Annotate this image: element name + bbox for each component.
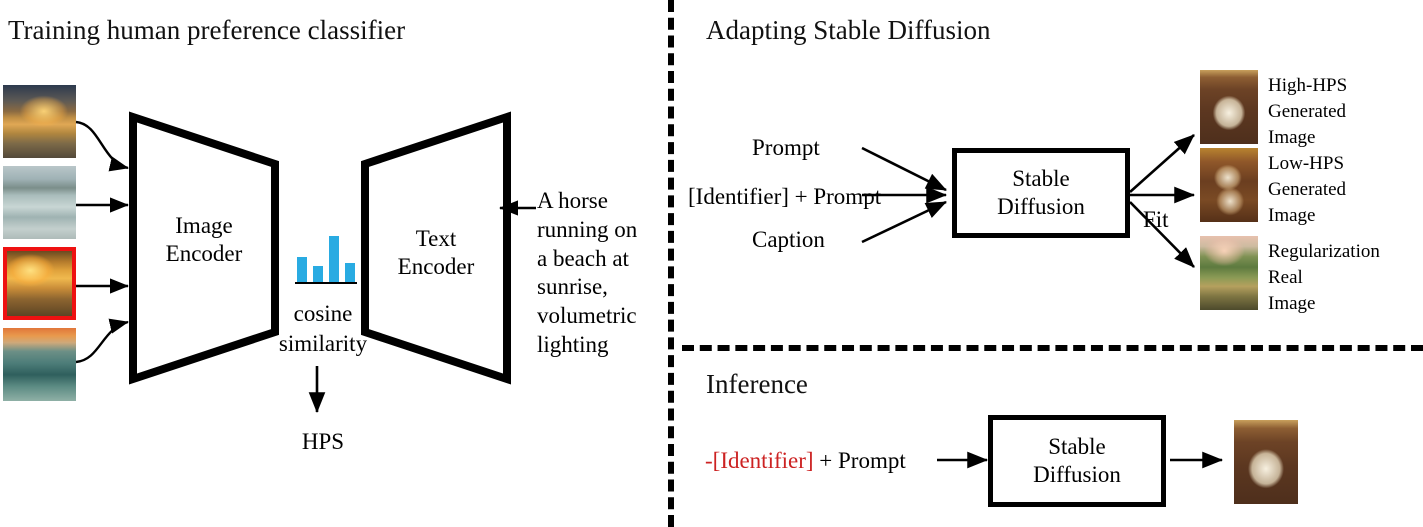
left-panel-title: Training human preference classifier [8,16,405,46]
input-label-prompt: Prompt [752,134,820,162]
output-caption-low-hps-line1: Low-HPS [1268,151,1418,177]
inference-input-identifier: -[Identifier] [705,448,814,473]
bar-2 [313,266,323,282]
bar-3 [329,236,339,282]
bar-4 [345,263,355,282]
dog-high-hps-thumb [1200,70,1258,144]
output-caption-high-hps-line2: Generated [1268,99,1418,125]
text-encoder-label-line2: Encoder [360,253,512,281]
sd-adapting-line2: Diffusion [997,193,1085,221]
dog-inference-thumb [1234,420,1298,504]
image-encoder-label-line1: Image [128,212,280,240]
prompt-arrow [494,198,540,222]
inference-input-arrow [935,450,995,474]
input-label-caption: Caption [752,226,825,254]
sd-inference-line1: Stable [1048,433,1106,461]
output-caption-high-hps-line3: Image [1268,125,1418,151]
top-right-panel-title: Adapting Stable Diffusion [706,16,990,46]
horse-teal-thumb [3,328,76,401]
output-caption-low-hps-line3: Image [1268,203,1418,229]
cosine-similarity-label-line2: similarity [258,330,388,358]
horse-golden-thumb [3,247,76,320]
output-caption-regularization-line1: Regularization [1268,239,1423,265]
regularization-real-thumb [1200,236,1258,310]
dog-low-hps-thumb [1200,148,1258,222]
bar-1 [297,257,307,282]
figure-root: Training human preference classifier Ima… [0,0,1423,527]
vertical-divider [668,0,674,527]
output-caption-low-hps-line2: Generated [1268,177,1418,203]
stable-diffusion-box-adapting: Stable Diffusion [952,148,1130,238]
output-caption-high-hps-line1: High-HPS [1268,73,1418,99]
stable-diffusion-box-inference: Stable Diffusion [988,415,1166,507]
output-caption-low-hps: Low-HPS Generated Image [1268,151,1418,230]
output-caption-high-hps: High-HPS Generated Image [1268,73,1418,152]
output-caption-regularization-line2: Real [1268,265,1423,291]
text-encoder-label-line1: Text [360,225,512,253]
prompt-text: A horse running on a beach at sunrise, v… [537,187,641,360]
inference-input-label: -[Identifier] + Prompt [705,447,906,475]
horse-pale-beach-thumb [3,166,76,239]
output-caption-regularization-line3: Image [1268,291,1423,317]
horizontal-divider [682,345,1423,351]
hps-arrow [305,366,335,426]
inference-input-prompt: + Prompt [814,448,906,473]
cosine-similarity-label-line1: cosine [258,300,388,328]
image-encoder-label-line2: Encoder [128,240,280,268]
fit-label: Fit [1143,206,1169,234]
input-label-identifier-prompt: [Identifier] + Prompt [688,183,881,211]
input-arrows [860,140,960,250]
output-arrows [1128,110,1203,280]
horse-sunset-thumb [3,85,76,158]
cosine-similarity-bar-chart [295,236,357,284]
hps-output-label: HPS [258,428,388,456]
sd-inference-line2: Diffusion [1033,461,1121,489]
output-caption-regularization: Regularization Real Image [1268,239,1423,318]
inference-output-arrow [1168,450,1232,474]
sd-adapting-line1: Stable [1012,165,1070,193]
bottom-right-panel-title: Inference [706,370,808,400]
